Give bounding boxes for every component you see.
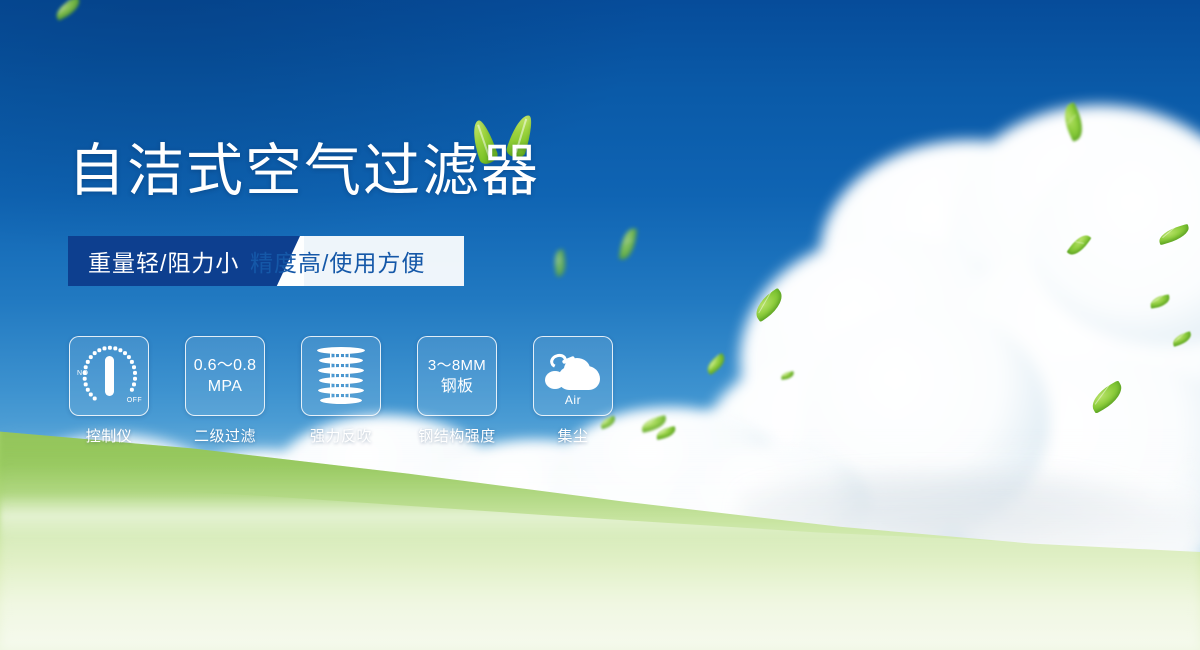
control-dial-icon: NO OFF bbox=[78, 345, 140, 407]
page-title: 自洁式空气过滤器 bbox=[68, 143, 540, 200]
feature-label: 强力反吹 bbox=[310, 425, 372, 446]
air-label: Air bbox=[544, 393, 602, 407]
dial-label-no: NO bbox=[77, 370, 88, 377]
feature-list: NO OFF 控制仪 0.6～0.8 MPA 二级过滤 bbox=[68, 336, 614, 446]
feature-icon-box: 3～8MM 钢板 bbox=[417, 336, 497, 416]
grass-highlight bbox=[0, 450, 1200, 650]
steel-material-text: 钢板 bbox=[441, 376, 474, 397]
dial-indicator bbox=[105, 356, 114, 396]
feature-icon-box bbox=[301, 336, 381, 416]
feature-label: 集尘 bbox=[557, 425, 588, 446]
feature-item-control[interactable]: NO OFF 控制仪 bbox=[68, 336, 150, 446]
subtitle-right-text: 精度高/使用方便 bbox=[250, 236, 425, 286]
feature-item-dust[interactable]: Air 集尘 bbox=[532, 336, 614, 446]
subtitle-left-text: 重量轻/阻力小 bbox=[88, 236, 239, 286]
feature-label: 二级过滤 bbox=[194, 425, 256, 446]
feature-icon-box: 0.6～0.8 MPA bbox=[185, 336, 265, 416]
feature-label: 控制仪 bbox=[86, 425, 133, 446]
feature-icon-box: Air bbox=[533, 336, 613, 416]
cloud-body bbox=[558, 366, 600, 390]
feature-item-steel[interactable]: 3～8MM 钢板 钢结构强度 bbox=[416, 336, 498, 446]
feature-icon-box: NO OFF bbox=[69, 336, 149, 416]
steel-thickness-text: 3～8MM bbox=[428, 355, 486, 376]
pressure-unit-text: MPA bbox=[208, 376, 242, 397]
feature-label: 钢结构强度 bbox=[418, 425, 496, 446]
product-banner: 自洁式空气过滤器 重量轻/阻力小 精度高/使用方便 bbox=[0, 0, 1200, 650]
pressure-value-text: 0.6～0.8 bbox=[194, 355, 257, 376]
cloud-air-icon: Air bbox=[544, 354, 602, 392]
feature-item-pressure[interactable]: 0.6～0.8 MPA 二级过滤 bbox=[184, 336, 266, 446]
sky-glow bbox=[0, 0, 660, 260]
feature-item-blowback[interactable]: 强力反吹 bbox=[300, 336, 382, 446]
dial-label-off: OFF bbox=[127, 397, 142, 404]
filter-stack-icon bbox=[315, 347, 367, 405]
